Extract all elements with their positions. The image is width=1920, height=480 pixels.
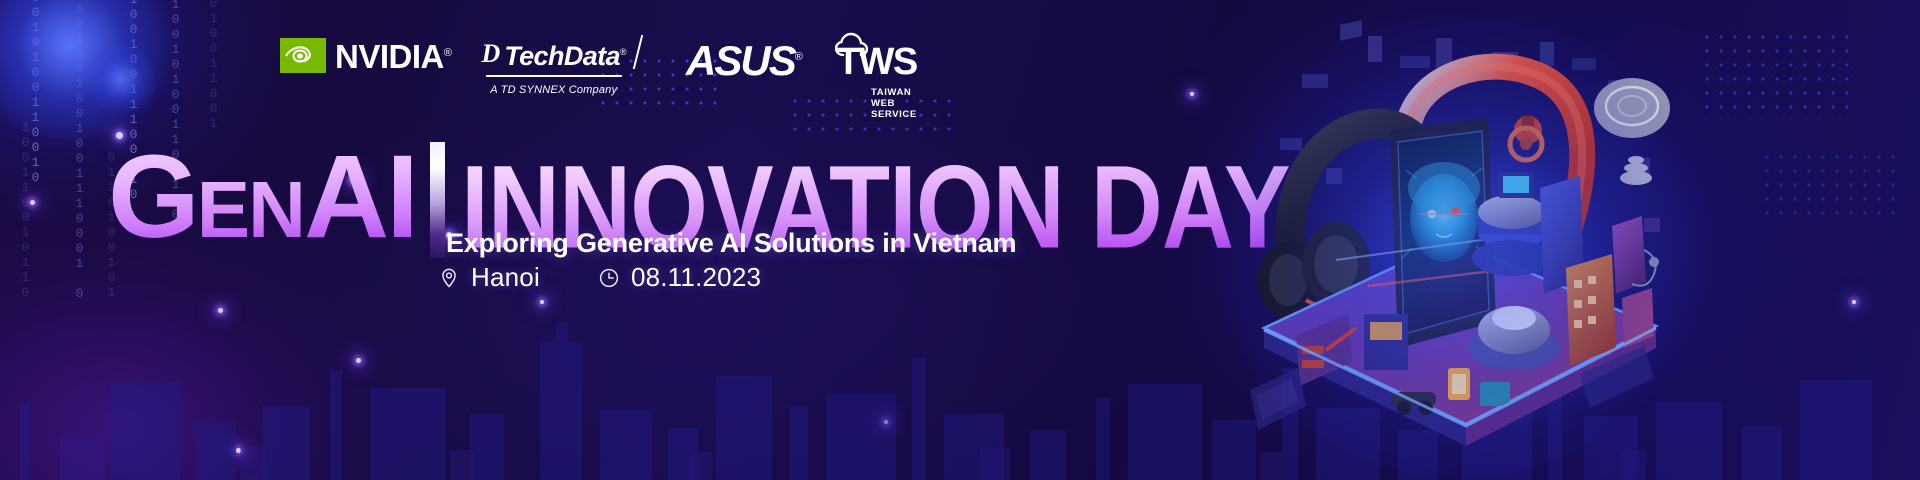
ai-city-illustration — [1240, 18, 1680, 458]
tech-data-slash — [633, 35, 643, 69]
date-label: 08.11.2023 — [631, 262, 761, 293]
spark — [1190, 92, 1194, 96]
dot-grid-pattern — [1760, 150, 1900, 220]
tws-subtitle: TAIWAN WEB SERVICE — [871, 87, 917, 122]
genai-innovation-day-banner: 0010100110010 1101001001001110001 0 1001… — [0, 0, 1920, 480]
logo-tech-data[interactable]: D TechData® A TD SYNNEX Company — [481, 36, 626, 96]
tech-data-wordmark: TechData® — [504, 38, 626, 70]
logo-nvidia[interactable]: NVIDIA® — [280, 36, 451, 74]
spark — [30, 200, 35, 205]
nvidia-wordmark: NVIDIA® — [335, 36, 451, 74]
illustration-glow — [1210, 8, 1710, 478]
glow-blob — [84, 42, 158, 116]
tech-data-monogram: D — [481, 41, 500, 67]
cloud-icon — [835, 32, 881, 56]
event-date: 08.11.2023 — [598, 262, 761, 293]
location-label: Hanoi — [471, 262, 540, 293]
clock-icon — [598, 267, 620, 289]
partner-logo-row: NVIDIA® D TechData® A TD SYNNEX Company … — [280, 36, 917, 122]
event-subtitle: Exploring Generative AI Solutions in Vie… — [446, 228, 1016, 259]
tech-data-tagline: A TD SYNNEX Company — [490, 84, 617, 96]
binary-stream: 010011001 — [206, 0, 221, 131]
spark — [1852, 300, 1856, 304]
binary-stream: 100110010110 — [18, 120, 33, 300]
spark — [540, 300, 544, 304]
asus-wordmark: ASUS® — [686, 36, 801, 82]
logo-tws[interactable]: TWS TAIWAN WEB SERVICE — [837, 36, 917, 122]
tech-data-underline — [485, 75, 621, 77]
dot-grid-pattern — [1700, 30, 1850, 120]
logo-asus[interactable]: ASUS® — [686, 36, 801, 82]
location-pin-icon — [438, 267, 460, 289]
headline-divider — [430, 142, 445, 258]
nvidia-eye-icon — [280, 38, 326, 73]
event-location: Hanoi — [438, 262, 540, 293]
event-meta-row: Hanoi 08.11.2023 — [438, 262, 761, 293]
headline-genai: GENAI — [108, 138, 416, 269]
